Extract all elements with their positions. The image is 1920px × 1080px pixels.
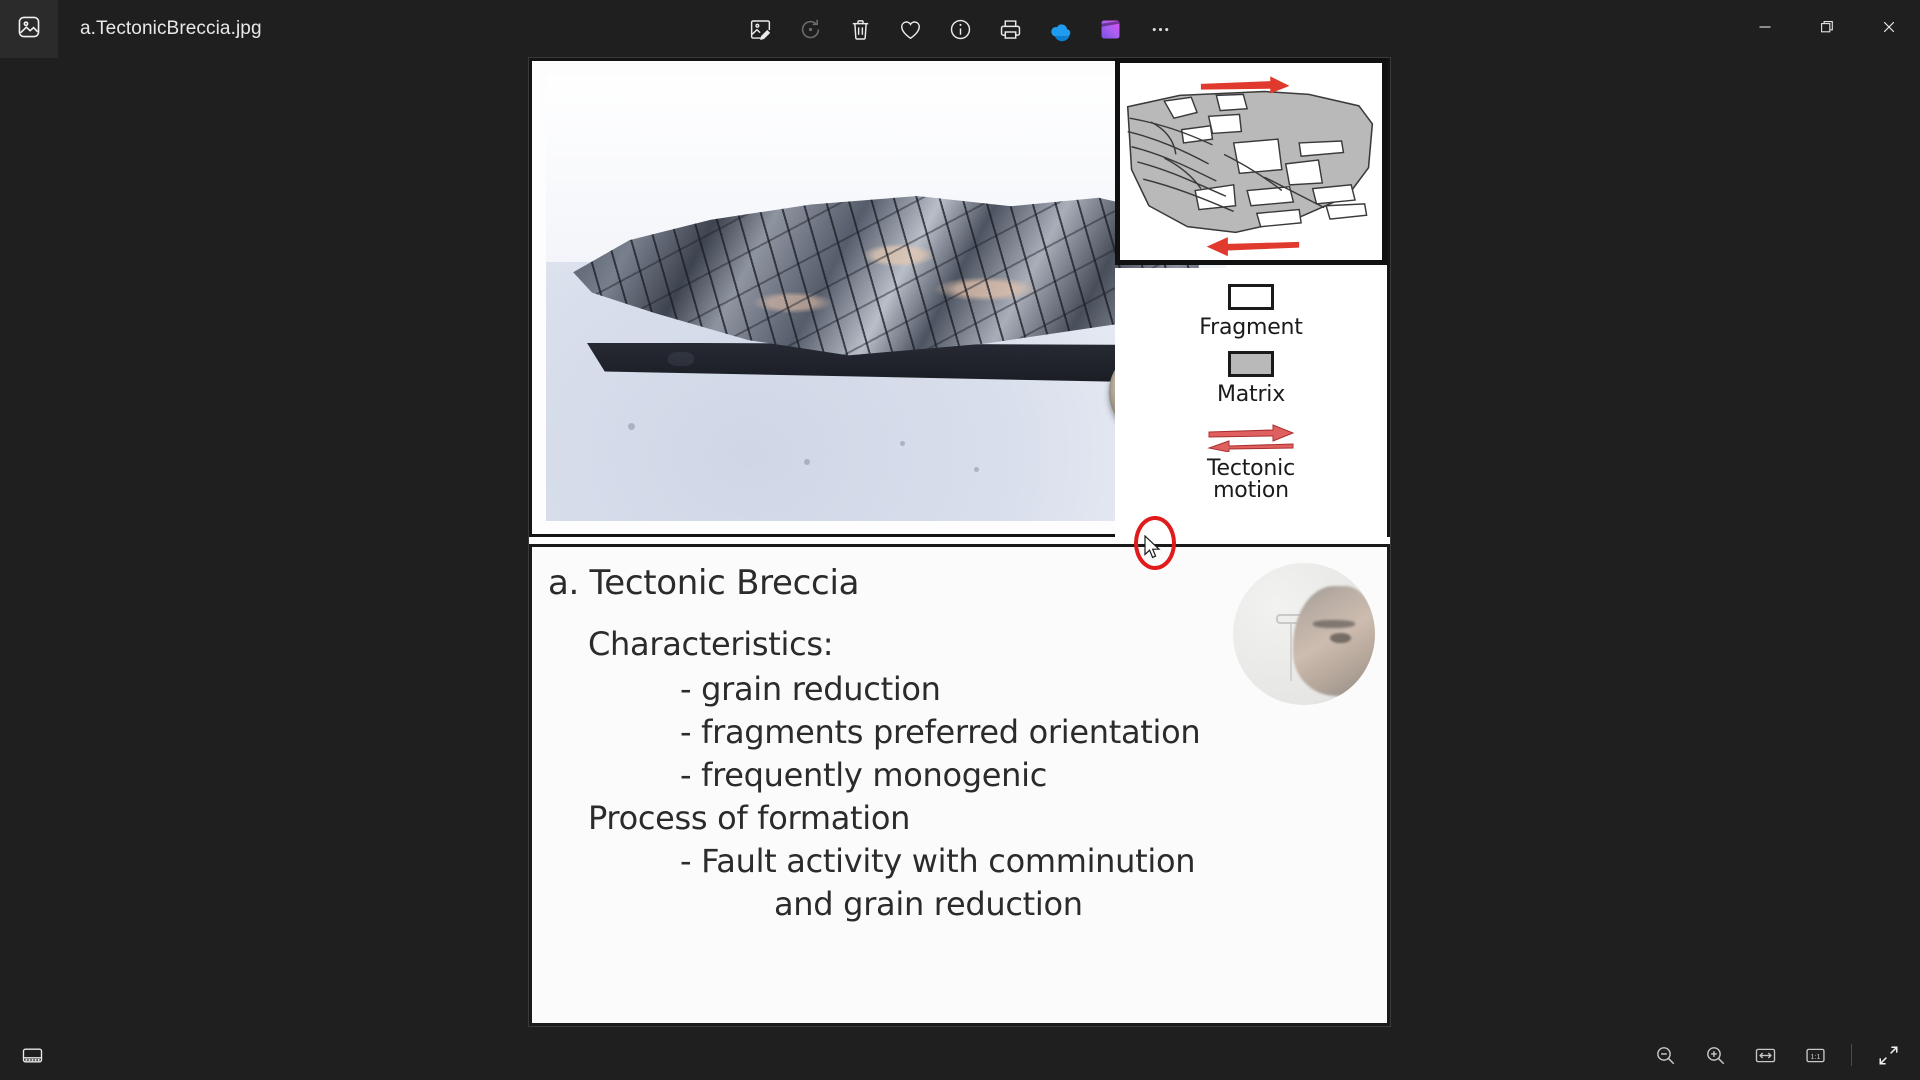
view-controls: 1:1 — [1641, 1037, 1912, 1073]
tectonic-motion-label: Tectonic motion — [1207, 458, 1295, 503]
app-tab[interactable] — [0, 0, 58, 58]
minimize-button[interactable] — [1734, 0, 1796, 58]
characteristic-bullet-3: - frequently monogenic — [680, 756, 1047, 794]
actual-size-button[interactable]: 1:1 — [1791, 1037, 1839, 1073]
more-options-icon — [1148, 17, 1173, 42]
zoom-in-button[interactable] — [1691, 1037, 1739, 1073]
print-icon — [998, 17, 1023, 42]
photo-speck — [628, 423, 635, 430]
fit-to-window-button[interactable] — [1741, 1037, 1789, 1073]
edit-image-button[interactable] — [735, 8, 785, 50]
svg-text:1:1: 1:1 — [1810, 1051, 1820, 1060]
matrix-label: Matrix — [1217, 382, 1285, 407]
title-bar: a.TectonicBreccia.jpg — [0, 0, 1920, 58]
info-button[interactable] — [935, 8, 985, 50]
fullscreen-button[interactable] — [1864, 1037, 1912, 1073]
characteristic-bullet-1: - grain reduction — [680, 670, 941, 708]
minimize-icon — [1757, 19, 1773, 40]
rotate-icon — [798, 17, 823, 42]
top-toolbar — [735, 0, 1185, 58]
photo-icon — [16, 14, 42, 45]
displayed-image[interactable]: Fragment Matrix Tectonic motion a. Tecto… — [529, 58, 1390, 1026]
window-controls — [1734, 0, 1920, 58]
zoom-out-icon — [1654, 1044, 1677, 1067]
presenter-eye — [1330, 633, 1351, 643]
restore-button[interactable] — [1796, 0, 1858, 58]
image-canvas[interactable]: Fragment Matrix Tectonic motion a. Tecto… — [0, 58, 1920, 1030]
more-options-button[interactable] — [1135, 8, 1185, 50]
designer-icon — [1098, 17, 1123, 42]
print-button[interactable] — [985, 8, 1035, 50]
characteristic-bullet-2: - fragments preferred orientation — [680, 713, 1200, 751]
photo-speck — [668, 352, 694, 366]
presenter-webcam-overlay — [1233, 563, 1375, 705]
close-icon — [1881, 19, 1897, 40]
onedrive-button[interactable] — [1035, 8, 1085, 50]
document-title: a.TectonicBreccia.jpg — [80, 18, 262, 40]
characteristics-heading: Characteristics: — [588, 625, 833, 663]
zoom-out-button[interactable] — [1641, 1037, 1689, 1073]
tectonic-motion-line1: Tectonic — [1207, 458, 1295, 480]
photo-speck — [804, 459, 810, 465]
fragment-label: Fragment — [1199, 315, 1302, 340]
toolbar-separator — [1851, 1044, 1852, 1066]
favorite-button[interactable] — [885, 8, 935, 50]
edit-image-icon — [748, 17, 773, 42]
presenter-brow — [1313, 620, 1356, 629]
matrix-swatch — [1228, 351, 1274, 377]
info-icon — [948, 17, 973, 42]
delete-icon — [848, 17, 873, 42]
process-bullet-1: - Fault activity with comminution — [680, 842, 1195, 880]
process-bullet-1-continued: and grain reduction — [774, 885, 1083, 923]
tectonic-motion-arrows — [1203, 422, 1299, 452]
fullscreen-icon — [1877, 1044, 1900, 1067]
filmstrip-icon — [21, 1044, 44, 1067]
restore-icon — [1819, 19, 1835, 40]
heart-icon — [898, 17, 923, 42]
photo-speck — [900, 441, 905, 446]
close-button[interactable] — [1858, 0, 1920, 58]
rotate-button[interactable] — [785, 8, 835, 50]
slide-title: a. Tectonic Breccia — [548, 563, 859, 603]
mouse-cursor — [1143, 535, 1163, 561]
breccia-sketch-diagram — [1115, 58, 1387, 265]
fragment-swatch — [1228, 284, 1274, 310]
filmstrip-button[interactable] — [8, 1037, 56, 1073]
designer-button[interactable] — [1085, 8, 1135, 50]
fit-to-window-icon — [1754, 1044, 1777, 1067]
figure-legend: Fragment Matrix Tectonic motion — [1115, 268, 1387, 537]
photo-speck — [974, 467, 979, 472]
slide-text-panel: a. Tectonic Breccia Characteristics: - g… — [529, 544, 1390, 1026]
delete-button[interactable] — [835, 8, 885, 50]
zoom-in-icon — [1704, 1044, 1727, 1067]
webcam-background-stand — [1290, 624, 1292, 681]
figure-panel: Fragment Matrix Tectonic motion — [529, 58, 1390, 537]
process-heading: Process of formation — [588, 799, 910, 837]
bottom-toolbar: 1:1 — [0, 1030, 1920, 1080]
tectonic-motion-line2: motion — [1207, 480, 1295, 502]
onedrive-icon — [1048, 17, 1073, 42]
actual-size-icon: 1:1 — [1804, 1044, 1827, 1067]
